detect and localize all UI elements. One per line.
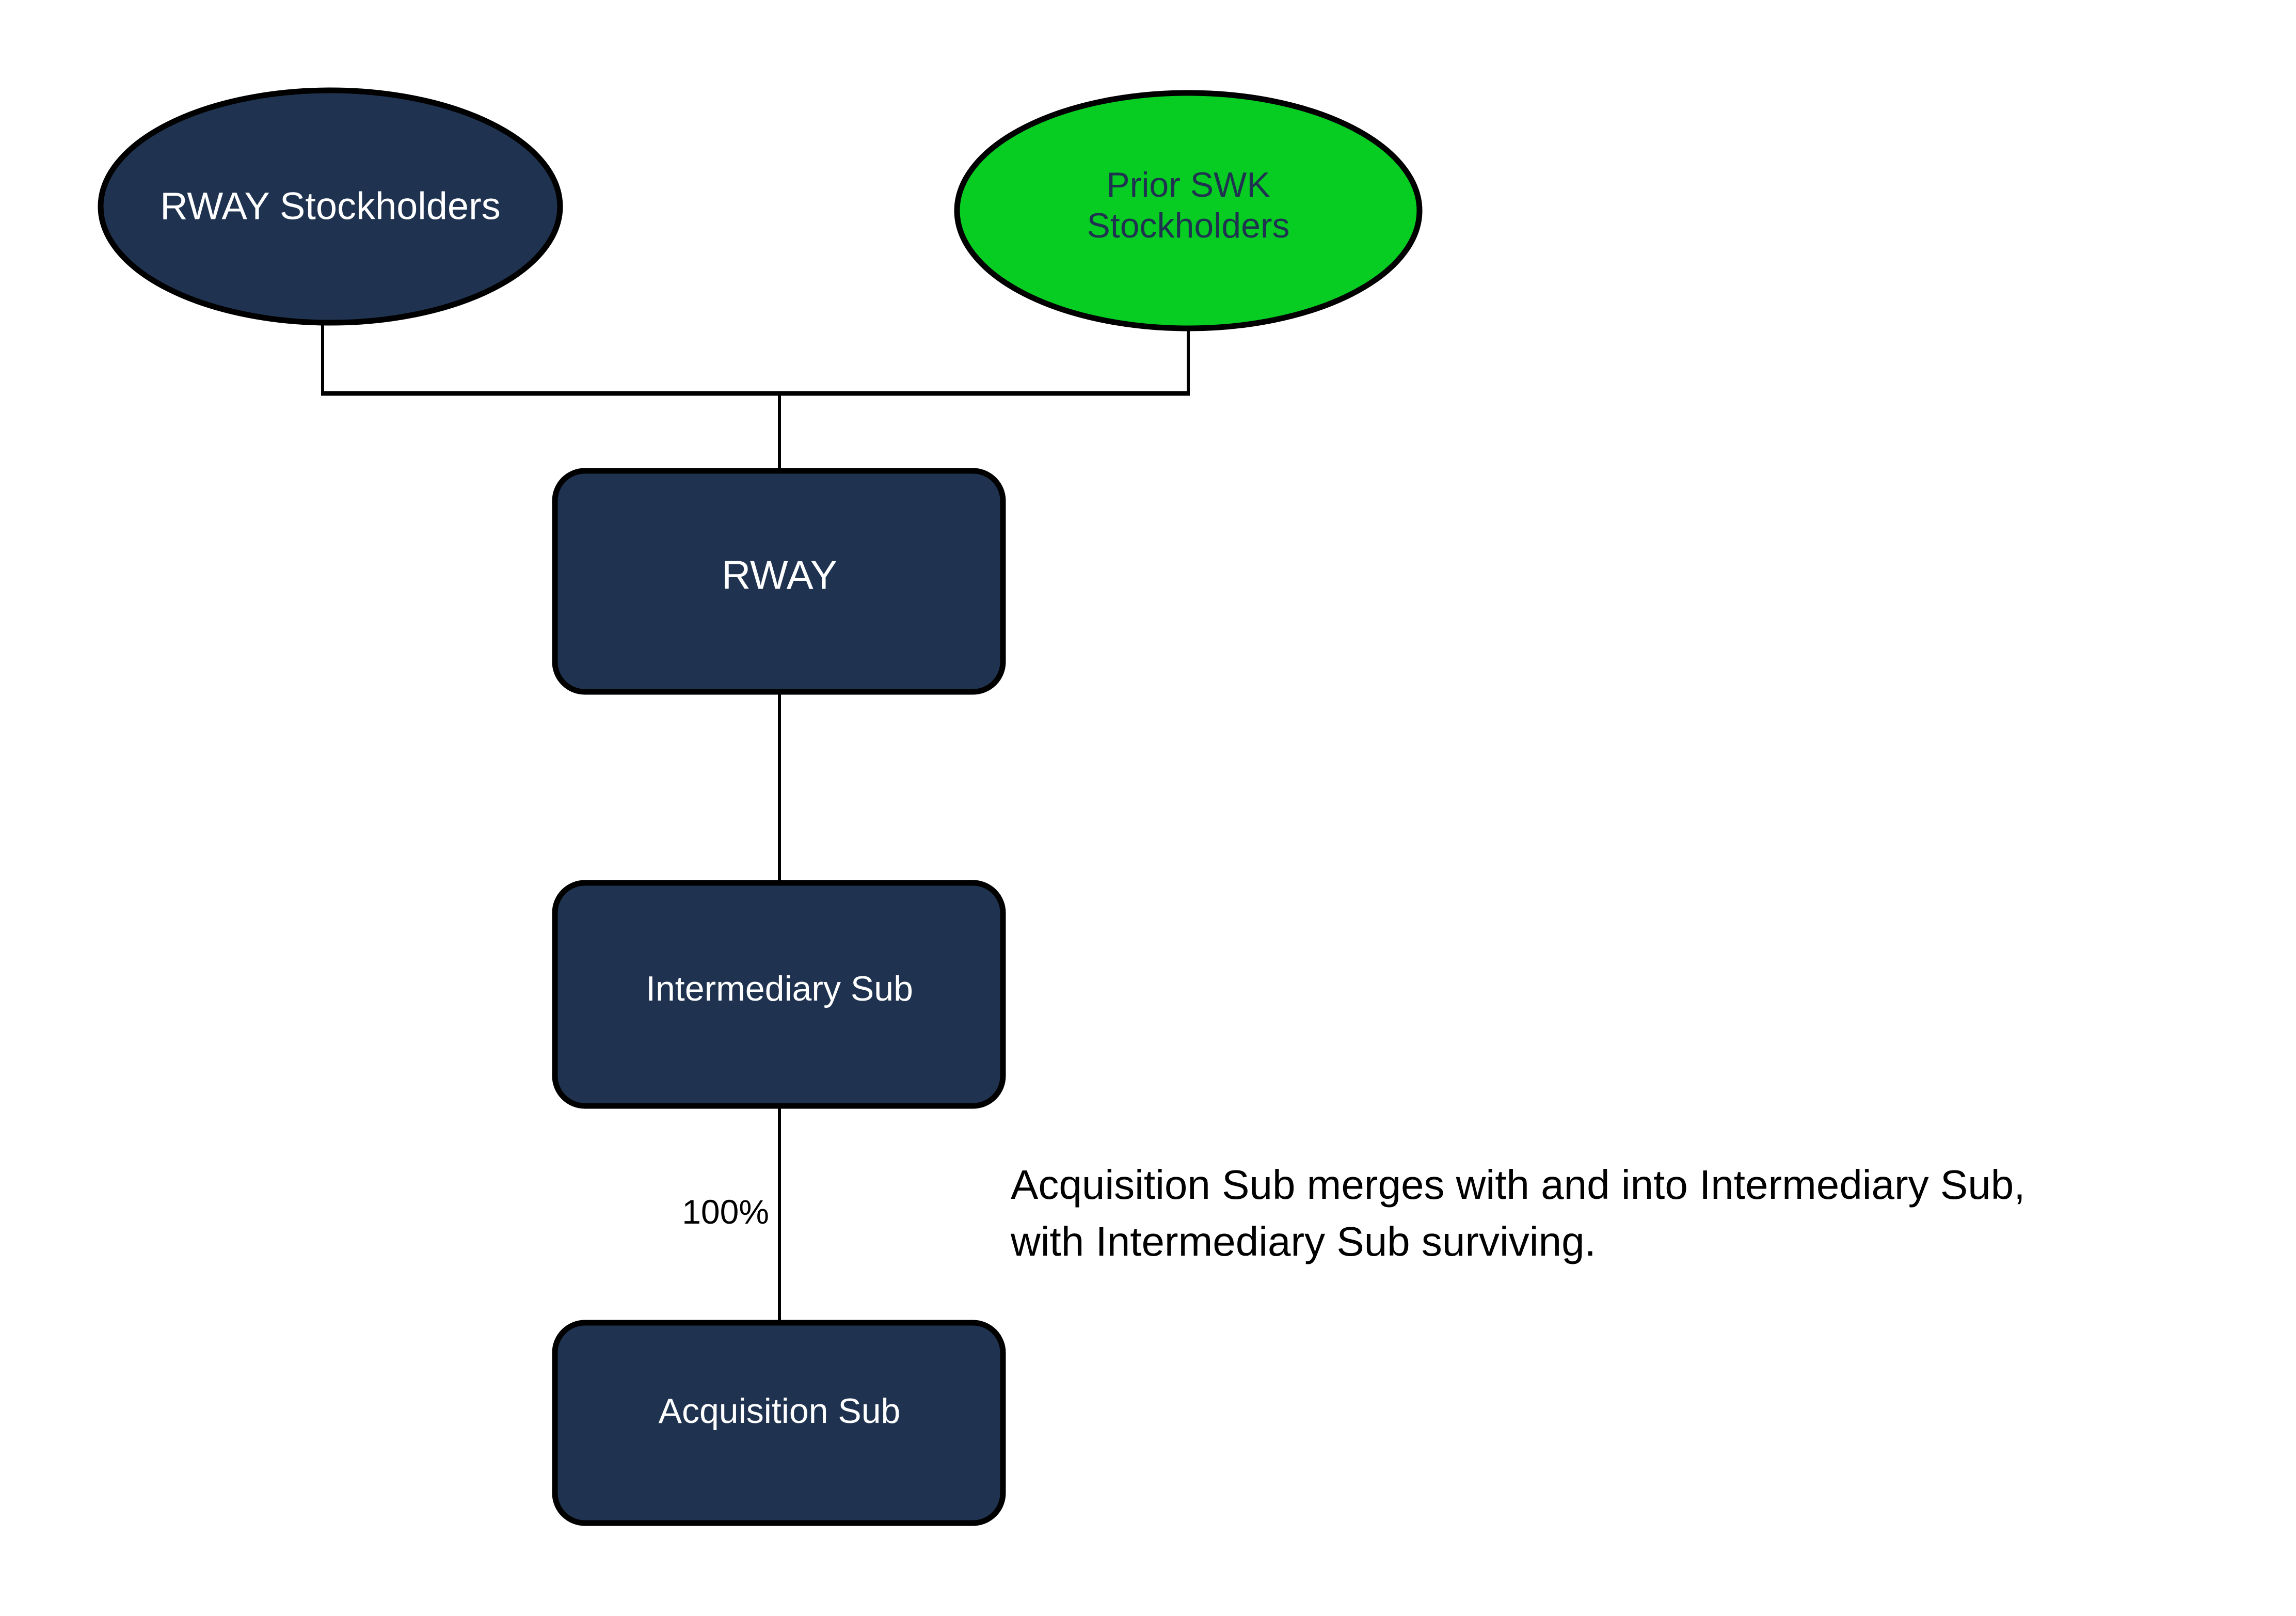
- acquisition-sub-label: Acquisition Sub: [659, 1391, 901, 1431]
- intermediary-sub-label: Intermediary Sub: [646, 969, 913, 1008]
- node-intermediary-sub[interactable]: Intermediary Sub: [555, 883, 1003, 1106]
- rway-stockholders-label: RWAY Stockholders: [160, 185, 500, 228]
- prior-swk-stockholders-label-line1: Prior SWK: [1106, 165, 1270, 204]
- node-acquisition-sub[interactable]: Acquisition Sub: [555, 1323, 1003, 1523]
- merger-annotation-line2: with Intermediary Sub surviving.: [1010, 1218, 1596, 1264]
- node-rway-stockholders[interactable]: RWAY Stockholders: [101, 90, 560, 323]
- ownership-percent-label: 100%: [682, 1193, 769, 1231]
- merger-annotation-line1: Acquisition Sub merges with and into Int…: [1011, 1162, 2025, 1208]
- rway-label: RWAY: [722, 552, 837, 598]
- merger-annotation: Acquisition Sub merges with and into Int…: [1010, 1162, 2025, 1264]
- node-rway[interactable]: RWAY: [555, 471, 1003, 692]
- org-structure-diagram: RWAY Stockholders Prior SWK Stockholders…: [0, 0, 2296, 1616]
- node-prior-swk-stockholders[interactable]: Prior SWK Stockholders: [957, 93, 1420, 328]
- prior-swk-stockholders-label-line2: Stockholders: [1087, 206, 1289, 245]
- diagram-canvas: RWAY Stockholders Prior SWK Stockholders…: [0, 0, 2296, 1616]
